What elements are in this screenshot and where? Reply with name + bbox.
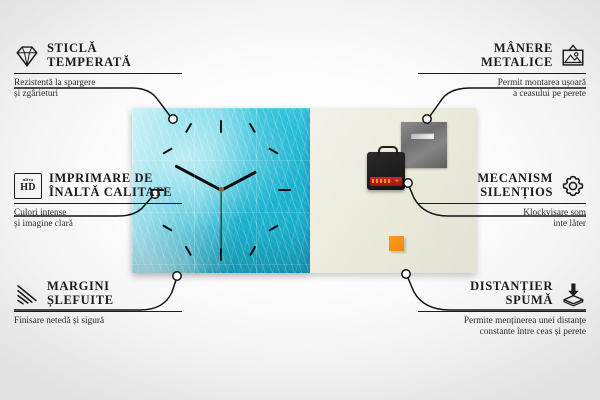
feature-hd-print: ultra HD IMPRIMARE DE ÎNALTĂ CALITATE Cu… (14, 172, 182, 230)
feature-divider (418, 311, 586, 312)
orange-foam-spacer (389, 236, 404, 251)
gear-icon (560, 173, 586, 199)
tick-7 (185, 246, 192, 256)
hanger-slot (411, 133, 434, 139)
tick-1 (249, 123, 256, 133)
feature-divider (418, 73, 586, 74)
tick-12 (220, 120, 222, 133)
feature-header: ultra HD IMPRIMARE DE ÎNALTĂ CALITATE (14, 172, 182, 199)
feature-header: MÂNERE METALICE (418, 42, 586, 69)
feature-title: DISTANȚIER SPUMĂ (470, 280, 553, 307)
infographic-canvas: + (0, 0, 600, 400)
ultra-hd-icon: ultra HD (14, 173, 42, 199)
hour-hand (220, 170, 257, 192)
feature-title: STICLĂ TEMPERATĂ (47, 42, 131, 69)
battery: + (370, 177, 402, 186)
quartz-clock-mechanism: + (367, 152, 405, 190)
feature-metal-handles: MÂNERE METALICE Permit montarea ușoară a… (418, 42, 586, 100)
feature-subtitle-line1: Permit montarea ușoară (418, 78, 586, 89)
feature-subtitle-line1: Rezistentă la spargere (14, 78, 182, 89)
feature-title: MÂNERE METALICE (481, 42, 553, 69)
feature-divider (14, 73, 182, 74)
feature-subtitle-line2: constante între ceas și perete (418, 327, 586, 338)
battery-label (372, 179, 392, 183)
feature-header: DISTANȚIER SPUMĂ (418, 280, 586, 307)
feature-tempered-glass: STICLĂ TEMPERATĂ Rezistentă la spargere … (14, 42, 182, 100)
feature-header: MECANISM SILENȚIOS (418, 172, 586, 199)
feature-subtitle-line2: și imagine clară (14, 219, 182, 230)
feature-header: MARGINI ȘLEFUITE (14, 280, 182, 307)
diagonal-lines-icon (14, 281, 40, 307)
battery-plus-icon: + (395, 178, 399, 185)
mechanism-hook (378, 146, 398, 157)
feature-subtitle-line1: Finisare netedă și sigură (14, 316, 182, 327)
tick-11 (185, 123, 192, 133)
feature-header: STICLĂ TEMPERATĂ (14, 42, 182, 69)
hd-label: HD (20, 183, 36, 194)
metal-hanger-plate (401, 122, 447, 168)
tick-5 (249, 246, 256, 256)
feature-divider (14, 311, 182, 312)
connector-dot-polished-edges (173, 272, 181, 280)
tick-4 (268, 224, 278, 231)
feature-silent-mechanism: MECANISM SILENȚIOS Klockvisare som inte … (418, 172, 586, 230)
feature-title: IMPRIMARE DE ÎNALTĂ CALITATE (49, 172, 172, 199)
feature-title: MECANISM SILENȚIOS (477, 172, 553, 199)
feature-subtitle-line2: și zgârieturi (14, 89, 182, 100)
feature-foam-spacer: DISTANȚIER SPUMĂ Permite menținerea unei… (418, 280, 586, 338)
feature-subtitle-line2: inte låter (418, 219, 586, 230)
tick-6 (220, 248, 222, 261)
feature-divider (14, 203, 182, 204)
second-hand (220, 191, 221, 249)
feature-subtitle-line1: Culori intense (14, 208, 182, 219)
feature-divider (418, 203, 586, 204)
feature-subtitle-line2: a ceasului pe perete (418, 89, 586, 100)
arrow-onto-layer-icon (560, 281, 586, 307)
tick-2 (268, 147, 278, 154)
feature-polished-edges: MARGINI ȘLEFUITE Finisare netedă și sigu… (14, 280, 182, 327)
hand-hub (219, 187, 224, 192)
feature-subtitle-line1: Klockvisare som (418, 208, 586, 219)
feature-subtitle-line1: Permite menținerea unei distanțe (418, 316, 586, 327)
diamond-icon (14, 43, 40, 69)
tick-10 (162, 147, 172, 154)
tick-3 (278, 189, 291, 191)
feature-title: MARGINI ȘLEFUITE (47, 280, 114, 307)
framed-picture-hanger-icon (560, 43, 586, 69)
